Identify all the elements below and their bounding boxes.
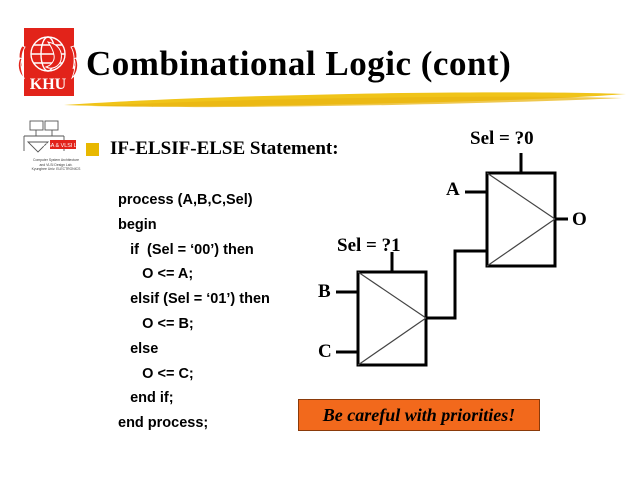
- label-output-o: O: [572, 209, 587, 231]
- label-sel-top: Sel = ?0: [470, 128, 534, 150]
- lab-badge-text: CSA & VLSI Lab: [43, 143, 83, 149]
- wire-mux-interconnect: [426, 251, 487, 318]
- mux-bottom-diagonal-upper: [358, 272, 426, 318]
- label-input-c: C: [318, 341, 332, 363]
- caution-banner-text: Be careful with priorities!: [323, 405, 516, 426]
- mux-bottom-body: [358, 272, 426, 365]
- lab-logo-caption: Computer System Architecture and VLSI De…: [12, 158, 100, 172]
- label-input-b: B: [318, 281, 331, 303]
- bullet-square-icon: [86, 143, 99, 156]
- caution-banner: Be careful with priorities!: [298, 399, 540, 431]
- mux-top-diagonal-upper: [487, 173, 555, 219]
- mux-top-diagonal-lower: [487, 219, 555, 266]
- slide-canvas: KHU Combinational Logic (cont) CSA & VLS…: [0, 0, 640, 480]
- label-sel-bottom: Sel = ?1: [337, 235, 401, 257]
- title-underline-swoosh: [62, 88, 628, 112]
- mux-bottom-diagonal-lower: [358, 318, 426, 365]
- bullet-heading-label: IF-ELSIF-ELSE Statement:: [110, 138, 339, 160]
- label-input-a: A: [446, 179, 460, 201]
- bullet-heading: IF-ELSIF-ELSE Statement:: [86, 138, 339, 160]
- vhdl-code-block: process (A,B,C,Sel) begin if (Sel = ‘00’…: [118, 188, 270, 436]
- page-title: Combinational Logic (cont): [86, 44, 606, 84]
- mux-top-body: [487, 173, 555, 266]
